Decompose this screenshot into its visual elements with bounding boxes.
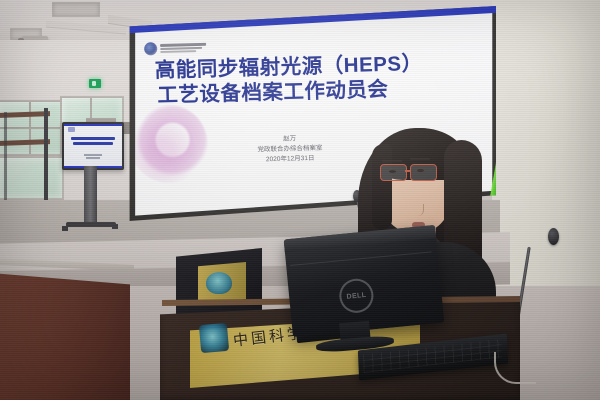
slide-title: 高能同步辐射光源（HEPS） 工艺设备档案工作动员会 bbox=[154, 49, 485, 108]
monitor-brand-label: DELL bbox=[346, 291, 366, 300]
secondary-display-screen bbox=[64, 124, 122, 168]
ceiling-vent-icon bbox=[52, 2, 100, 17]
window bbox=[0, 156, 64, 200]
nose bbox=[416, 204, 424, 216]
hair-left-strand bbox=[372, 144, 392, 230]
partition-post bbox=[4, 112, 7, 212]
display-cart-base bbox=[66, 222, 116, 227]
display-cart-column bbox=[84, 166, 97, 224]
window bbox=[0, 100, 66, 156]
display-cart-leg bbox=[112, 224, 118, 229]
secondary-display bbox=[62, 122, 124, 170]
exit-sign-icon bbox=[89, 79, 101, 88]
display-cart-leg bbox=[62, 226, 68, 231]
slide-logo-icon bbox=[68, 127, 75, 132]
eye bbox=[417, 169, 424, 172]
institute-emblem-icon bbox=[199, 323, 229, 353]
dell-logo-icon: DELL bbox=[334, 274, 378, 318]
microphone-head-icon bbox=[548, 228, 559, 245]
presentation-photo: 高能同步辐射光源（HEPS） 工艺设备档案工作动员会 赵万 党政联合办综合档案室… bbox=[0, 0, 600, 400]
institute-logo-icon bbox=[144, 41, 206, 56]
institute-emblem-icon bbox=[206, 272, 232, 294]
eye bbox=[389, 170, 396, 173]
